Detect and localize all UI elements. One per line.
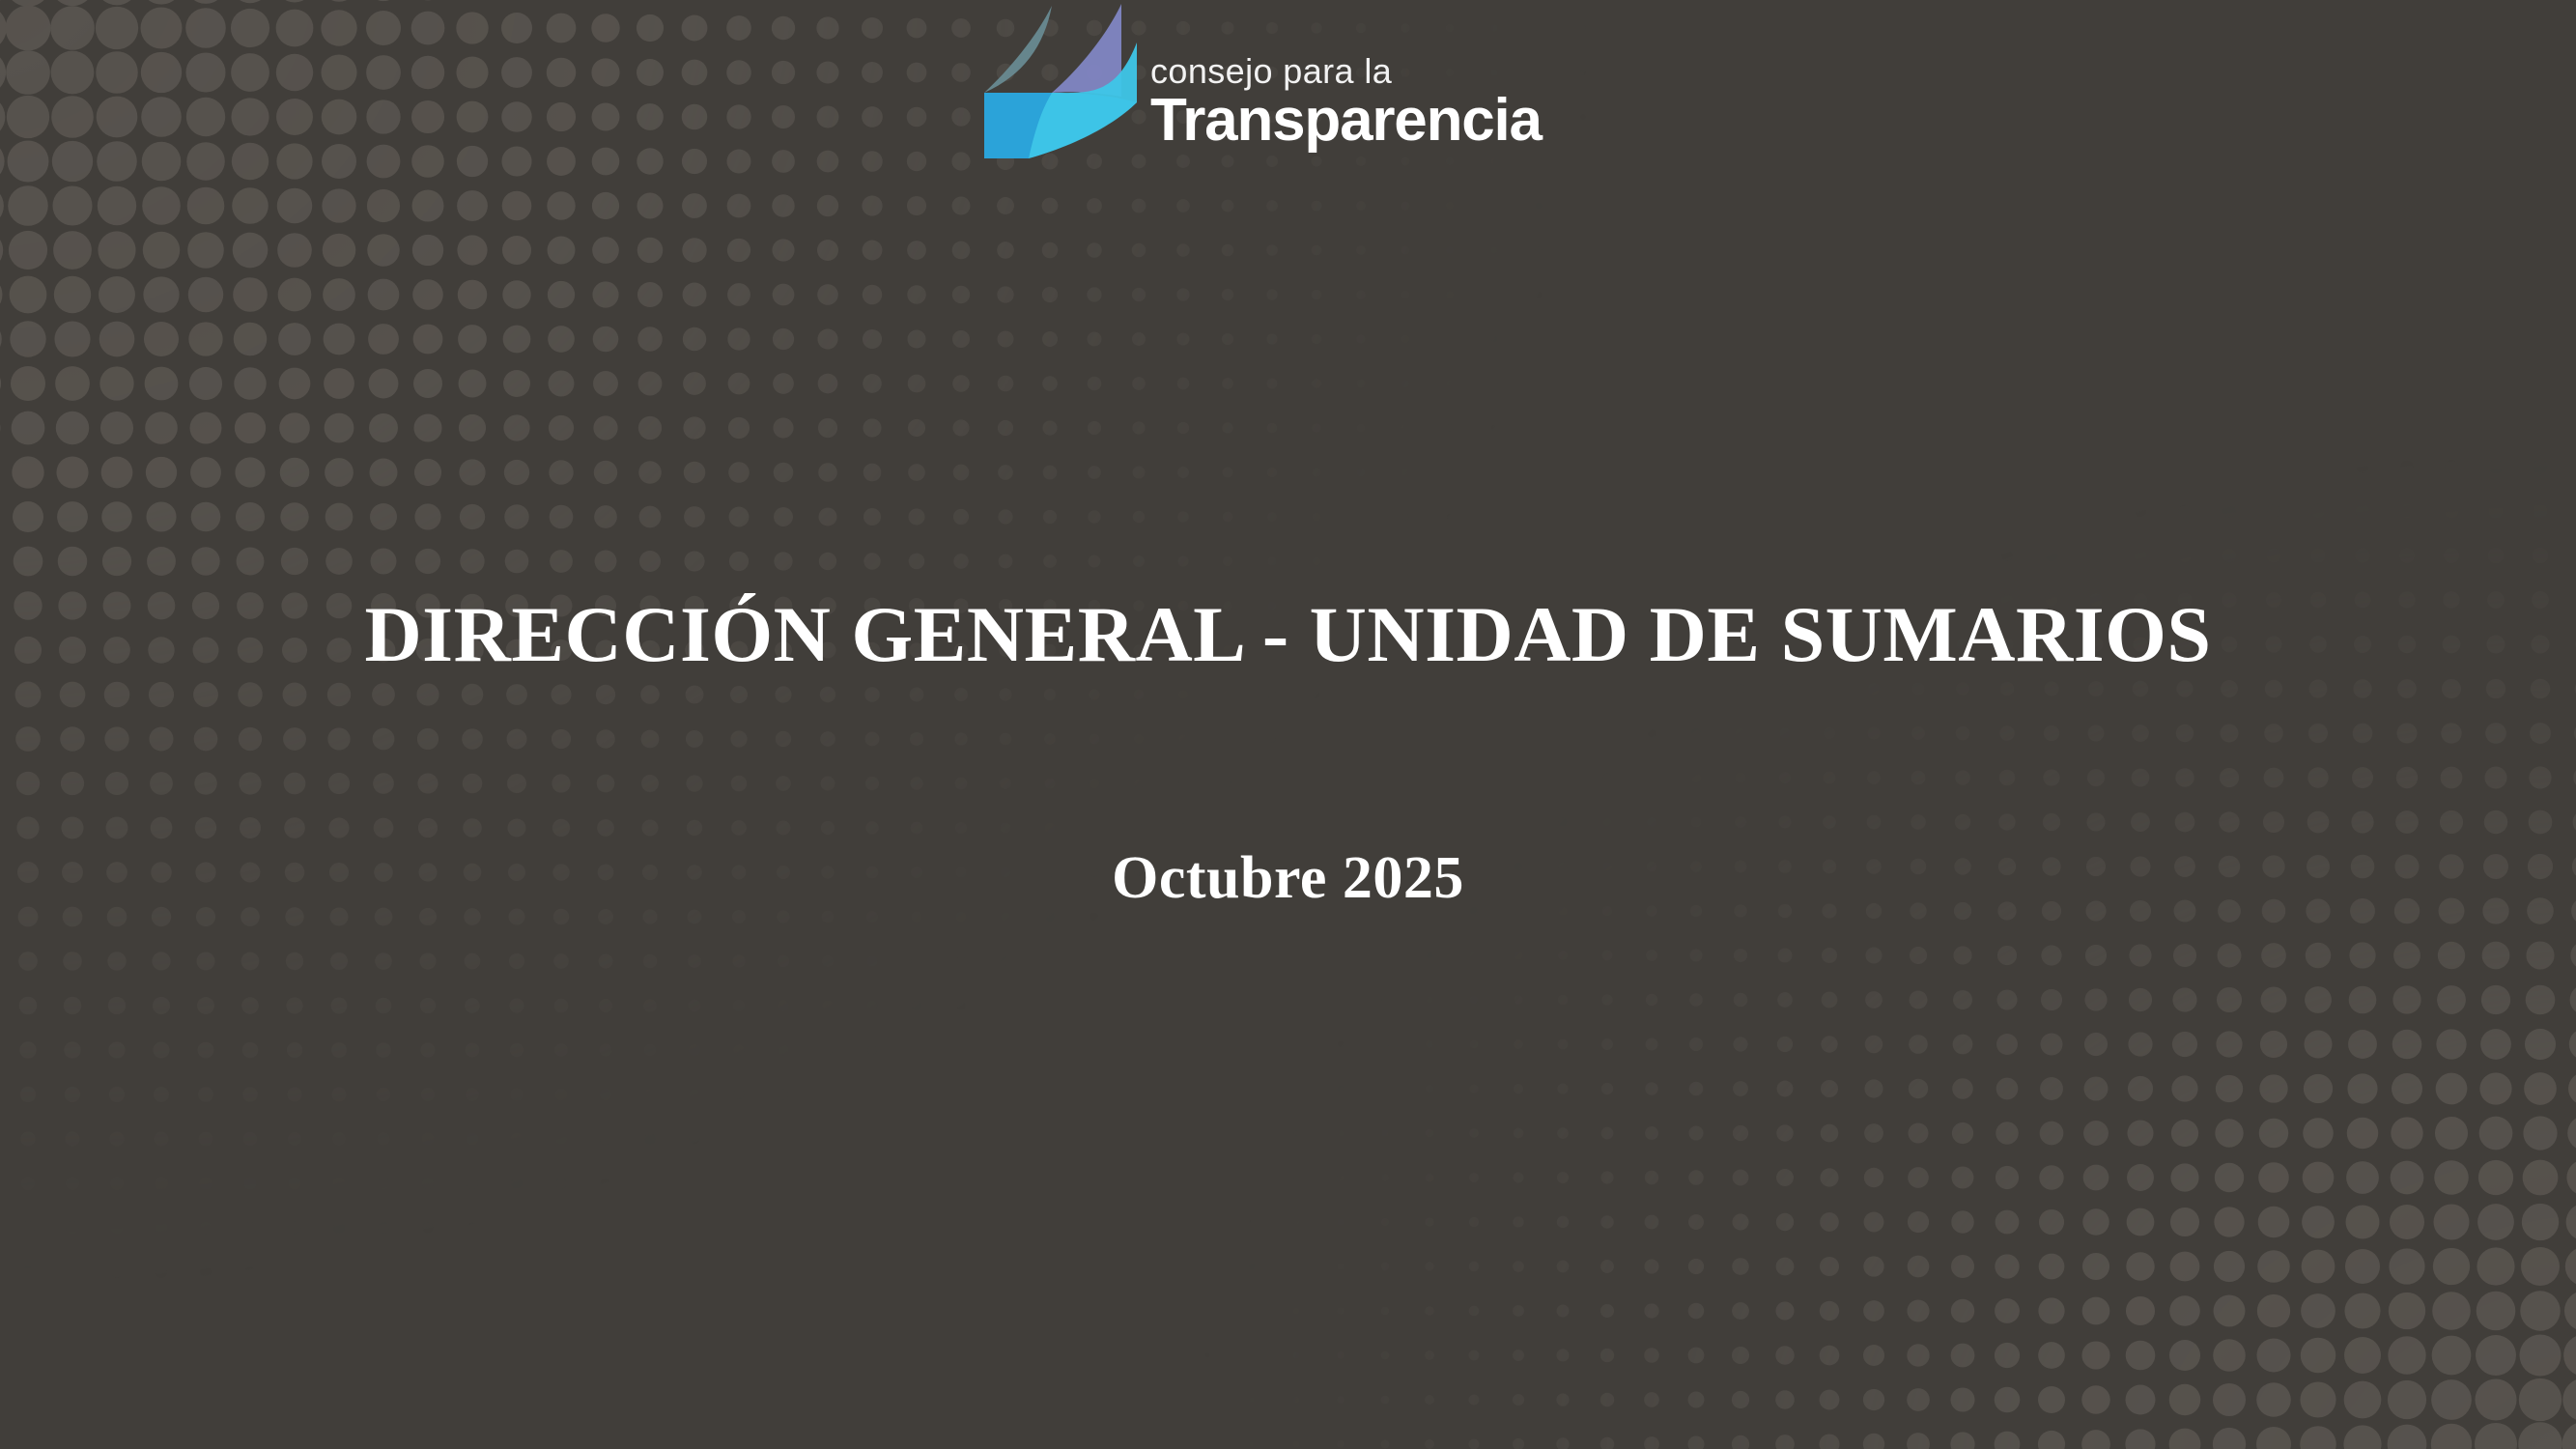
logo-tagline: consejo para la (1150, 54, 1392, 89)
transparencia-logo-mark-icon (980, 4, 1137, 160)
subtitle-container: Octubre 2025 (0, 844, 2576, 913)
logo-wordmark: consejo para la Transparencia (1150, 54, 1542, 151)
title-container: DIRECCIÓN GENERAL - UNIDAD DE SUMARIOS (0, 591, 2576, 678)
page-title: DIRECCIÓN GENERAL - UNIDAD DE SUMARIOS (0, 591, 2576, 678)
logo-brand-name: Transparencia (1150, 91, 1542, 151)
page-subtitle: Octubre 2025 (0, 844, 2576, 913)
title-slide: consejo para la Transparencia DIRECCIÓN … (0, 0, 2576, 1449)
organization-logo: consejo para la Transparencia (980, 4, 1542, 160)
